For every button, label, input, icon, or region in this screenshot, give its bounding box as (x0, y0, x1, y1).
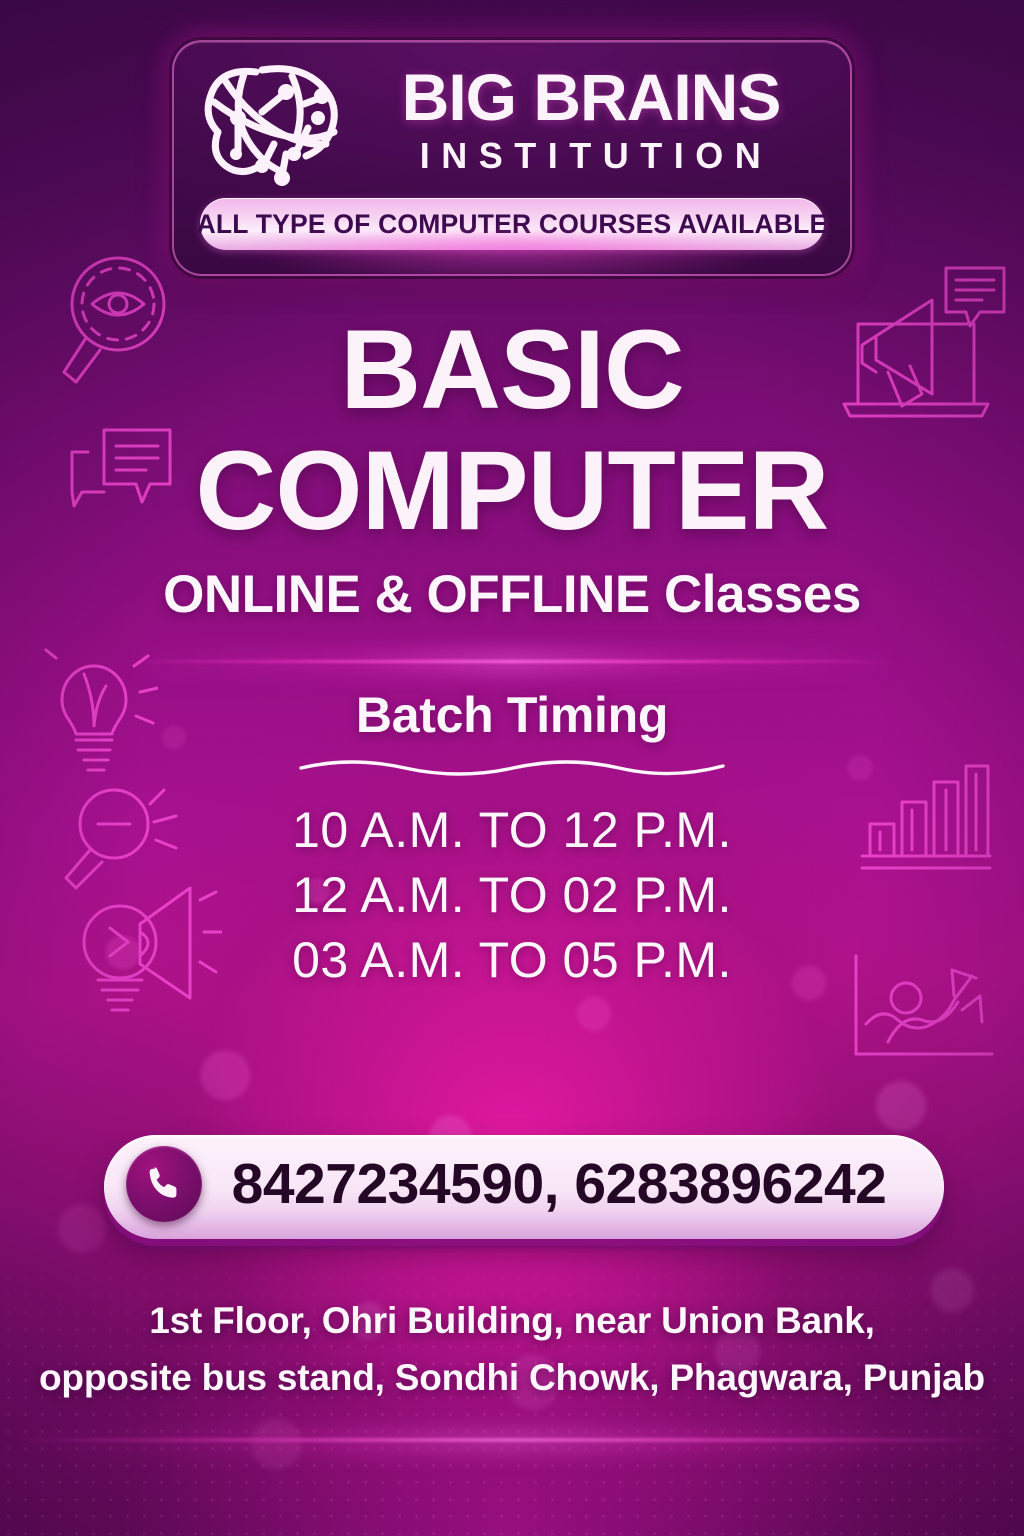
batch-timing-title: Batch Timing (0, 686, 1024, 744)
wave-divider-icon (297, 754, 727, 780)
batch-timing-row: 03 A.M. TO 05 P.M. (0, 928, 1024, 993)
brain-icon (200, 58, 350, 186)
headline-line-2: COMPUTER (0, 431, 1024, 552)
contact-pill[interactable]: 8427234590, 6283896242 (104, 1135, 944, 1239)
logo-row: BIG BRAINS INSTITUTION (174, 42, 850, 186)
headline-line-1: BASIC (0, 310, 1024, 431)
batch-timing-row: 10 A.M. TO 12 P.M. (0, 798, 1024, 863)
logo-text-block: BIG BRAINS INSTITUTION (364, 64, 824, 181)
address-block: 1st Floor, Ohri Building, near Union Ban… (30, 1292, 994, 1407)
contact-numbers[interactable]: 8427234590, 6283896242 (202, 1151, 910, 1217)
brand-title: BIG BRAINS (364, 64, 818, 130)
headline-block: BASIC COMPUTER ONLINE & OFFLINE Classes (0, 310, 1024, 625)
glow-streak-top (0, 660, 1024, 675)
headline-subhead: ONLINE & OFFLINE Classes (0, 564, 1024, 625)
logo-badge: BIG BRAINS INSTITUTION ALL TYPE OF COMPU… (172, 40, 852, 276)
brand-tagline-pill: ALL TYPE OF COMPUTER COURSES AVAILABLE (200, 198, 824, 250)
batch-timing-list: 10 A.M. TO 12 P.M. 12 A.M. TO 02 P.M. 03… (0, 798, 1024, 993)
brand-subtitle: INSTITUTION (364, 132, 818, 181)
address-line-1: 1st Floor, Ohri Building, near Union Ban… (30, 1292, 994, 1349)
phone-icon[interactable] (126, 1146, 202, 1222)
brand-tagline: ALL TYPE OF COMPUTER COURSES AVAILABLE (197, 209, 828, 240)
batch-timing-block: Batch Timing 10 A.M. TO 12 P.M. 12 A.M. … (0, 686, 1024, 993)
address-line-2: opposite bus stand, Sondhi Chowk, Phagwa… (30, 1349, 994, 1406)
glow-streak-bottom (0, 1438, 1024, 1454)
batch-timing-row: 12 A.M. TO 02 P.M. (0, 863, 1024, 928)
poster-canvas: BIG BRAINS INSTITUTION ALL TYPE OF COMPU… (0, 0, 1024, 1536)
